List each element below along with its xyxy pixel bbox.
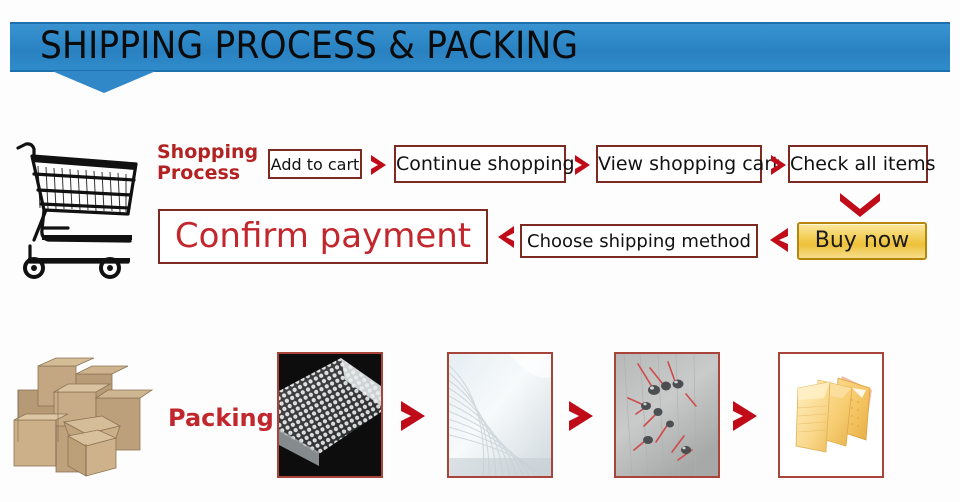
packing-step-padded-mailer[interactable]	[778, 352, 884, 478]
chevron-right-icon	[572, 152, 596, 178]
chevron-right-icon	[368, 152, 392, 178]
chevron-right-icon	[397, 398, 431, 434]
packing-step-foam-wrap[interactable]	[447, 352, 553, 478]
step-add-to-cart[interactable]: Add to cart	[268, 149, 362, 179]
process-label-line-1: Shopping	[157, 142, 267, 163]
step-continue-shopping[interactable]: Continue shopping	[394, 145, 566, 183]
step-check-all-items[interactable]: Check all items	[788, 145, 928, 183]
page-title: SHIPPING PROCESS & PACKING	[40, 22, 578, 72]
step-choose-shipping-method[interactable]: Choose shipping method	[520, 224, 758, 258]
step-check-all-items-label: Check all items	[790, 147, 926, 182]
bubble-wrap-roll-image	[279, 354, 381, 476]
step-confirm-payment-label: Confirm payment	[160, 211, 486, 262]
antistatic-bag-components-image	[616, 354, 718, 476]
header-banner: SHIPPING PROCESS & PACKING	[10, 22, 950, 72]
step-choose-shipping-method-label: Choose shipping method	[522, 226, 756, 257]
shopping-cart-icon	[8, 130, 148, 280]
process-label-line-2: Process	[157, 163, 267, 184]
cardboard-boxes-icon	[10, 348, 170, 488]
step-view-shopping-cart[interactable]: View shopping cart	[596, 145, 762, 183]
step-continue-shopping-label: Continue shopping	[396, 147, 564, 182]
step-add-to-cart-label: Add to cart	[270, 151, 360, 178]
packing-label: Packing	[168, 404, 274, 432]
packing-step-antistatic-bag[interactable]	[614, 352, 720, 478]
buy-now-button[interactable]: Buy now	[797, 222, 927, 260]
packing-step-bubble-wrap[interactable]	[277, 352, 383, 478]
foam-wrap-sheet-image	[449, 354, 551, 476]
chevron-left-icon	[494, 222, 518, 252]
chevron-down-icon	[838, 190, 882, 218]
chevron-right-icon	[729, 398, 763, 434]
step-view-shopping-cart-label: View shopping cart	[598, 147, 760, 182]
shopping-process-label: Shopping Process	[157, 142, 267, 184]
step-confirm-payment[interactable]: Confirm payment	[158, 209, 488, 264]
buy-now-label: Buy now	[815, 228, 909, 253]
padded-mailer-envelopes-image	[780, 354, 882, 476]
banner-notch-shape	[52, 71, 156, 93]
chevron-left-icon	[766, 224, 792, 256]
chevron-right-icon	[565, 398, 599, 434]
